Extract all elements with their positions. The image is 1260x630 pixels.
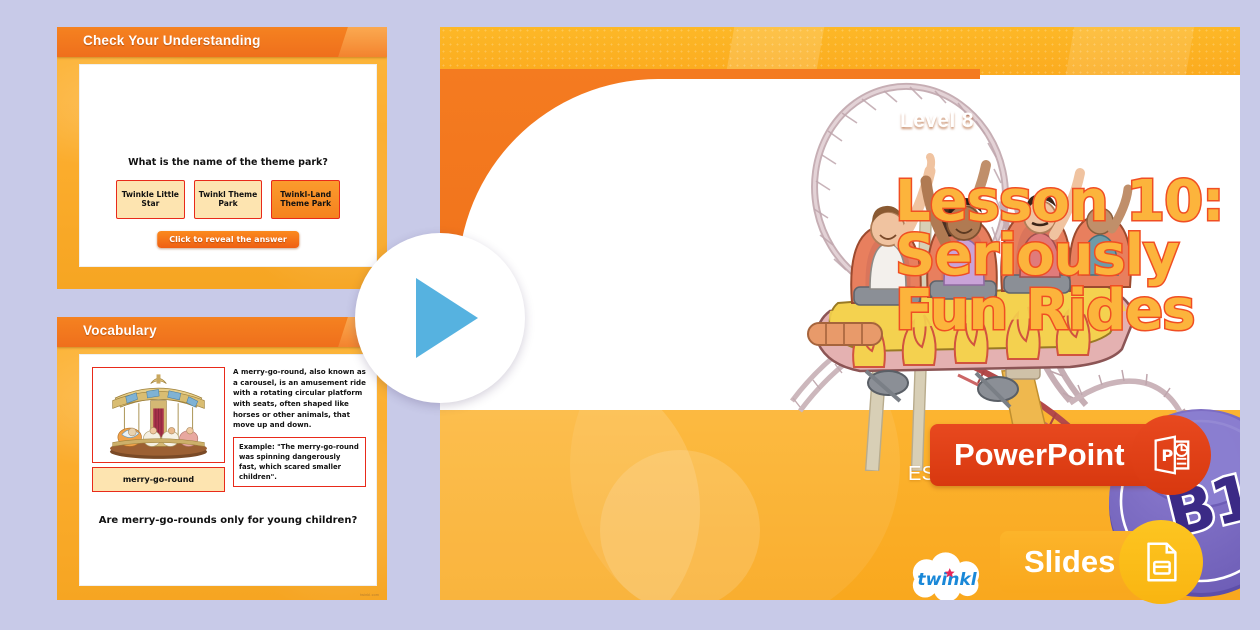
vocabulary-example: Example: "The merry-go-round was spinnin… — [233, 437, 366, 487]
vocabulary-discussion-question: Are merry-go-rounds only for young child… — [90, 515, 366, 526]
slide-top-band — [440, 27, 1240, 75]
quiz-question: What is the name of the theme park? — [80, 157, 376, 168]
twinkl-logo: twinkl — [906, 552, 988, 600]
thumbnail-title: Check Your Understanding — [83, 33, 261, 48]
thumbnail-title: Vocabulary — [83, 323, 157, 338]
thumbnail-page-body: merry-go-round A merry-go-round, also kn… — [79, 354, 377, 586]
vocabulary-definition: A merry-go-round, also known as a carous… — [233, 367, 366, 431]
svg-text:P: P — [1161, 446, 1173, 465]
slide-title: Lesson 10: Seriously Fun Rides — [895, 175, 1240, 338]
carousel-image-frame — [92, 367, 225, 463]
slides-badge-label: Slides — [1024, 544, 1115, 580]
top-band-dot-pattern — [440, 27, 1240, 75]
slide-thumbnail-check-understanding[interactable]: Check Your Understanding What is the nam… — [57, 27, 387, 289]
thumbnail-page-body: What is the name of the theme park? Twin… — [79, 64, 377, 267]
level-label: Level 8 — [900, 109, 974, 133]
vocabulary-image-column: merry-go-round — [92, 367, 225, 492]
google-slides-badge[interactable]: Slides — [1000, 531, 1193, 593]
twinkl-watermark: twinkl.com — [360, 593, 379, 597]
google-slides-icon — [1119, 520, 1203, 604]
quiz-options: Twinkle Little Star Twinkl Theme Park Tw… — [116, 180, 340, 219]
powerpoint-icon: P — [1131, 415, 1211, 495]
title-line-3: Fun Rides — [895, 284, 1240, 338]
screenshot-root: Check Your Understanding What is the nam… — [0, 0, 1260, 630]
quiz-option-2[interactable]: Twinkl Theme Park — [194, 180, 263, 219]
carousel-illustration — [93, 368, 224, 462]
slide-thumbnail-vocabulary[interactable]: Vocabulary — [57, 317, 387, 600]
quiz-option-3[interactable]: Twinkl-Land Theme Park — [271, 180, 340, 219]
play-triangle-icon — [416, 278, 478, 358]
play-button[interactable] — [355, 233, 525, 403]
title-line-1: Lesson 10: — [895, 175, 1240, 229]
reveal-answer-button[interactable]: Click to reveal the answer — [157, 231, 299, 248]
vocabulary-row: merry-go-round A merry-go-round, also kn… — [92, 367, 366, 492]
main-slide-preview[interactable]: Level 8 Lesson 10: Seriously Fun Rides E… — [440, 27, 1240, 600]
vocabulary-word: merry-go-round — [92, 467, 225, 492]
vocabulary-text-column: A merry-go-round, also known as a carous… — [233, 367, 366, 492]
quiz-option-1[interactable]: Twinkle Little Star — [116, 180, 185, 219]
title-line-2: Seriously — [895, 229, 1240, 283]
powerpoint-badge-label: PowerPoint — [954, 437, 1125, 473]
powerpoint-badge[interactable]: PowerPoint P — [930, 424, 1197, 486]
